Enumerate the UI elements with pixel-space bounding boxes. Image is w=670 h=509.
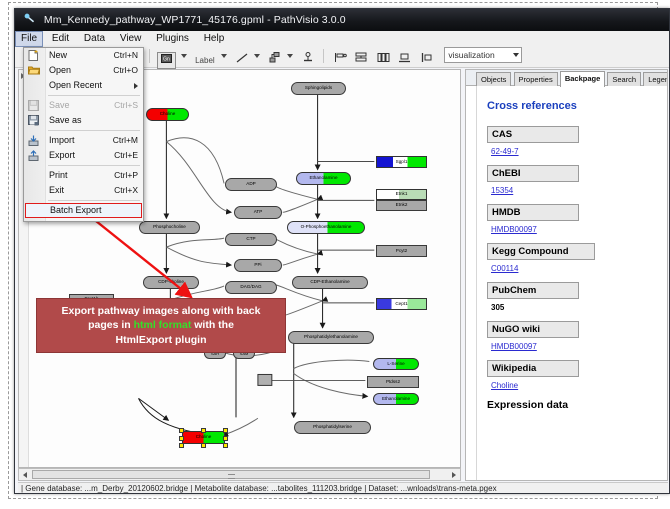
pathway-node-phosphatidylethanolamine[interactable]: Phosphatidylethanolamine (288, 331, 374, 344)
menu-item-label: Exit (49, 185, 64, 195)
selection-handle-s[interactable] (201, 443, 206, 448)
xref-nugo-wiki: NuGO wiki HMDB00097 (487, 321, 668, 351)
open-folder-icon (28, 65, 40, 76)
node-label: Sgpl1 (396, 160, 408, 165)
pathway-node-cdp-ethanolamine[interactable]: CDP-Ethanolamine (292, 276, 368, 289)
title-bar: Mm_Kennedy_pathway_WP1771_45176.gpml - P… (15, 9, 669, 31)
pathway-node-l-serine[interactable]: L-Serine (373, 358, 419, 370)
screenshot-root: Mm_Kennedy_pathway_WP1771_45176.gpml - P… (0, 0, 670, 509)
side-panel-tabs: Objects Properties Backpage Search Legen… (466, 70, 667, 86)
menu-edit[interactable]: Edit (46, 31, 75, 47)
node-label: CDP-Ethanolamine (310, 280, 349, 285)
line-dropdown-icon[interactable] (254, 54, 260, 58)
pathway-node-phosphatidylserine[interactable]: Phosphatidylserine (294, 421, 371, 434)
shape-tool-icon[interactable] (300, 52, 316, 67)
toolbar-separator (149, 49, 150, 63)
node-label: ADP (246, 182, 255, 187)
menu-item-save-as[interactable]: Save as (24, 113, 143, 128)
menu-item-accel: Ctrl+N (114, 48, 138, 63)
xref-database-name: CAS (487, 126, 579, 143)
tab-search[interactable]: Search (607, 72, 641, 86)
visualization-value: visualization (448, 48, 494, 62)
selection-handle-w[interactable] (179, 436, 184, 441)
menu-view[interactable]: View (114, 31, 148, 47)
menu-item-label: Import (49, 135, 75, 145)
save-as-icon (28, 115, 40, 126)
pathway-node-choline-top[interactable]: Choline (146, 108, 189, 121)
node-label: DAG/DAG (240, 285, 261, 290)
pathway-node-etnk2[interactable]: Etnk2 (376, 200, 427, 211)
pathway-node-o-phosphoethanolamine[interactable]: O-Phosphoethanolamine (287, 221, 365, 234)
node-label: Etnk1 (396, 192, 408, 197)
xref-value-link[interactable]: 62-49-7 (491, 147, 668, 156)
selection-handle-e[interactable] (223, 436, 228, 441)
menu-item-accel: Ctrl+M (113, 133, 138, 148)
tab-properties[interactable]: Properties (514, 72, 558, 86)
annotation-callout: Export pathway images along with back pa… (36, 298, 286, 353)
save-disk-icon (28, 100, 40, 111)
menu-item-exit[interactable]: Exit Ctrl+X (24, 183, 143, 198)
node-label: Choline (160, 112, 176, 117)
menu-item-accel: Ctrl+P (114, 168, 138, 183)
menu-item-import[interactable]: Import Ctrl+M (24, 133, 143, 148)
menu-item-label: Open (49, 65, 71, 75)
align-columns-icon[interactable] (375, 52, 392, 67)
datanode-tool-button[interactable]: Gn (157, 52, 176, 69)
window-title: Mm_Kennedy_pathway_WP1771_45176.gpml - P… (44, 14, 346, 26)
pathway-node-sphingolipids[interactable]: Sphingolipids (291, 82, 346, 95)
label-dropdown-icon[interactable] (221, 54, 227, 58)
node-label: Etnk2 (396, 203, 408, 208)
align-stack-icon[interactable] (353, 52, 370, 67)
node-label: PPi (254, 263, 261, 268)
xref-value-link[interactable]: HMDB00097 (491, 225, 668, 234)
pathway-node-ctp[interactable]: CTP (225, 233, 277, 246)
align-bottom-icon[interactable] (396, 52, 413, 67)
callout-line2-pre: pages in (88, 319, 134, 331)
pathway-node-ppi[interactable]: PPi (234, 259, 282, 272)
pathway-node-ethanolamine-top[interactable]: Ethanolamine (296, 172, 351, 185)
menu-item-accel: Ctrl+X (114, 183, 138, 198)
callout-line1: Export pathway images along with back (62, 305, 261, 317)
node-label: CTP (246, 237, 255, 242)
label-tool-button[interactable]: Label (193, 53, 217, 68)
cross-references-title: Cross references (487, 100, 668, 112)
node-label: Choline (196, 435, 212, 440)
menu-item-export[interactable]: Export Ctrl+E (24, 148, 143, 163)
node-label: L-Serine (387, 362, 404, 367)
menu-item-accel: Ctrl+E (114, 148, 138, 163)
menu-item-print[interactable]: Print Ctrl+P (24, 168, 143, 183)
node-label: Pcyt2 (396, 249, 408, 254)
anchor-tool-icon[interactable] (267, 52, 283, 67)
submenu-arrow-icon (134, 83, 138, 89)
pathway-node-pcyt2[interactable]: Pcyt2 (376, 245, 427, 257)
tab-objects[interactable]: Objects (476, 72, 511, 86)
xref-value-link[interactable]: HMDB00097 (491, 342, 668, 351)
selection-handle-nw[interactable] (179, 428, 184, 433)
file-menu-dropdown[interactable]: New Ctrl+N Open Ctrl+O Open Recent Save (23, 47, 144, 222)
menu-item-label: Save as (49, 115, 82, 125)
svg-text:Gn: Gn (163, 57, 170, 63)
xref-value-link[interactable]: C00114 (491, 264, 668, 273)
node-label: Ethanolamine (309, 176, 337, 181)
node-label: ATP (254, 210, 263, 215)
xref-value-text: 305 (491, 303, 668, 312)
xref-hmdb: HMDB HMDB00097 (487, 204, 668, 234)
pathway-node-ethanolamine-right[interactable]: Ethanolamine (373, 393, 419, 405)
menu-item-label: Export (49, 150, 75, 160)
menu-file[interactable]: File (15, 31, 43, 47)
xref-wikipedia: Wikipedia Choline (487, 360, 668, 390)
new-file-icon (28, 50, 40, 61)
menu-item-label: New (49, 50, 67, 60)
menu-data[interactable]: Data (78, 31, 111, 47)
callout-line3: HtmlExport plugin (116, 334, 207, 346)
expression-data-title: Expression data (487, 399, 668, 411)
pathway-node-atp[interactable]: ATP (234, 206, 282, 219)
selection-handle-sw[interactable] (179, 443, 184, 448)
node-label: CDP-choline (158, 280, 184, 285)
pathway-node-cept1[interactable]: Cept1 (376, 298, 427, 310)
backpage-content: Cross references CAS 62-49-7 ChEBI 15354… (476, 86, 668, 480)
xref-database-name: PubChem (487, 282, 579, 299)
xref-chebi: ChEBI 15354 (487, 165, 668, 195)
pathway-node-dag[interactable]: DAG/DAG (225, 281, 277, 294)
menu-bar: File Edit Data View Plugins Help (15, 31, 669, 48)
menu-plugins[interactable]: Plugins (150, 31, 195, 47)
align-left-icon[interactable] (332, 52, 349, 67)
pathway-node-adp[interactable]: ADP (225, 178, 277, 191)
xref-database-name: Wikipedia (487, 360, 579, 377)
status-bar: | Gene database: ...m_Derby_20120602.bri… (18, 482, 668, 494)
anchor-dropdown-icon[interactable] (287, 54, 293, 58)
selection-handle-n[interactable] (201, 428, 206, 433)
export-icon (28, 150, 40, 161)
node-label: Cept1 (395, 302, 407, 307)
line-tool-icon[interactable] (234, 53, 250, 68)
pathvisio-window: Mm_Kennedy_pathway_WP1771_45176.gpml - P… (14, 8, 670, 494)
xref-database-name: ChEBI (487, 165, 579, 182)
menu-item-new[interactable]: New Ctrl+N (24, 48, 143, 63)
xref-database-name: Kegg Compound (487, 243, 595, 260)
menu-divider-3 (48, 165, 140, 166)
menu-item-open-recent[interactable]: Open Recent (24, 78, 143, 93)
datanode-dropdown-icon[interactable] (181, 54, 187, 58)
menu-help[interactable]: Help (198, 31, 231, 47)
node-label: Phosphatidylserine (313, 425, 352, 430)
menu-divider-4 (48, 200, 140, 201)
selection-handle-ne[interactable] (223, 428, 228, 433)
scroll-left-icon[interactable] (23, 472, 27, 478)
align-side-icon[interactable] (418, 52, 435, 67)
pathway-node-phosphocholine[interactable]: Phosphocholine (139, 221, 200, 234)
node-label: Ptdss2 (386, 380, 400, 385)
xref-database-name: NuGO wiki (487, 321, 579, 338)
menu-item-open[interactable]: Open Ctrl+O (24, 63, 143, 78)
tab-legend[interactable]: Legend (643, 72, 668, 86)
scroll-right-icon[interactable] (452, 472, 456, 478)
pathvisio-app-icon (23, 11, 36, 24)
pathway-node-ptdss2[interactable]: Ptdss2 (367, 376, 419, 388)
menu-item-accel: Ctrl+S (114, 98, 138, 113)
visualization-select[interactable]: visualization (444, 47, 522, 63)
chevron-down-icon-visualization (513, 53, 519, 57)
menu-item-batch-export[interactable]: Batch Export (25, 203, 142, 218)
xref-value-link[interactable]: 15354 (491, 186, 668, 195)
menu-item-save: Save Ctrl+S (24, 98, 143, 113)
xref-kegg-compound: Kegg Compound C00114 (487, 243, 668, 273)
node-label: Phosphocholine (153, 225, 186, 230)
callout-line2-highlight: html format (134, 319, 192, 331)
selection-handle-se[interactable] (223, 443, 228, 448)
menu-item-label: Batch Export (50, 205, 102, 215)
node-label: Sphingolipids (305, 86, 332, 91)
menu-item-label: Print (49, 170, 68, 180)
xref-value-link[interactable]: Choline (491, 381, 668, 390)
xref-database-name: HMDB (487, 204, 579, 221)
side-panel: Objects Properties Backpage Search Legen… (465, 69, 668, 481)
callout-line2-post: with the (191, 319, 234, 331)
xref-cas: CAS 62-49-7 (487, 126, 668, 156)
menu-item-accel: Ctrl+O (113, 63, 138, 78)
menu-item-label: Save (49, 100, 70, 110)
node-label: Ethanolamine (382, 397, 410, 402)
import-icon (28, 135, 40, 146)
toolbar-separator-2 (323, 49, 324, 63)
pathway-node-sgpl1[interactable]: Sgpl1 (376, 156, 427, 168)
tab-backpage[interactable]: Backpage (560, 71, 605, 87)
pathway-node-etnk1[interactable]: Etnk1 (376, 189, 427, 200)
menu-divider-1 (48, 95, 140, 96)
menu-item-label: Open Recent (49, 80, 102, 90)
canvas-hscrollbar[interactable] (18, 468, 461, 481)
node-label: Phosphatidylethanolamine (304, 335, 358, 340)
scroll-thumb[interactable] (32, 470, 430, 479)
xref-pubchem: PubChem 305 (487, 282, 668, 312)
pathway-node-cdp-choline[interactable]: CDP-choline (143, 276, 199, 289)
node-label: O-Phosphoethanolamine (301, 225, 352, 230)
menu-divider-2 (48, 130, 140, 131)
